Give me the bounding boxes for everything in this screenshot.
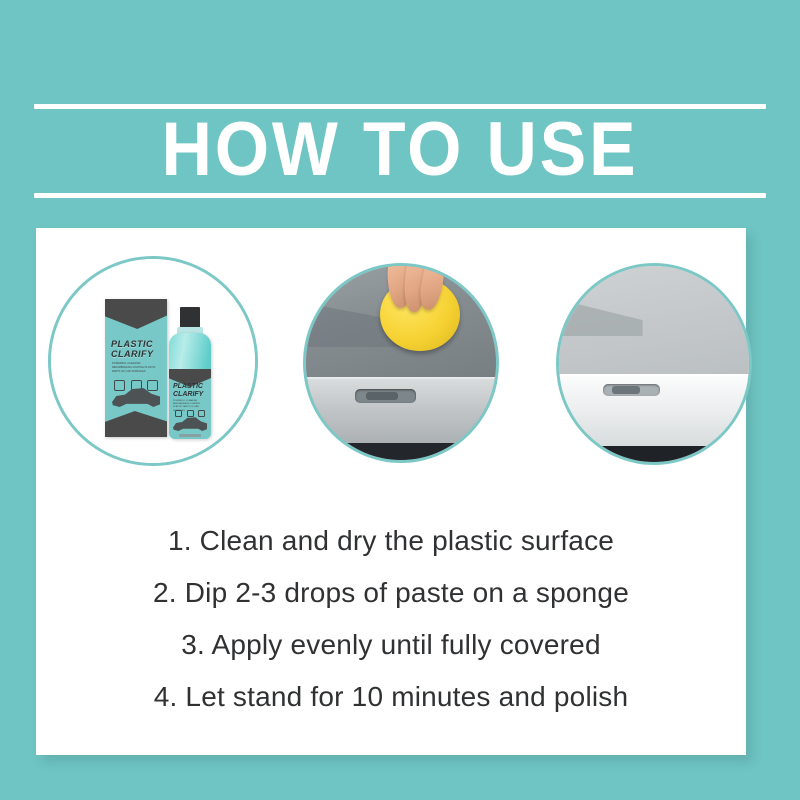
instruction-step: 3. Apply evenly until fully covered	[36, 619, 746, 671]
instruction-step: 1. Clean and dry the plastic surface	[36, 515, 746, 567]
result-scene	[559, 266, 749, 462]
box-brand-line-2: CLARIFY	[111, 349, 154, 359]
shield-icon	[114, 380, 125, 391]
door-handle	[355, 389, 416, 403]
bottle-brand-line-2: CLARIFY	[173, 391, 203, 398]
panel-shadow	[556, 296, 643, 337]
bottle-brand-line-1: PLASTIC	[173, 383, 203, 390]
bottle-cap	[180, 307, 200, 329]
product-scene: PLASTIC CLARIFY POWERFUL CLEANING REFURB…	[51, 259, 255, 463]
instruction-steps: 1. Clean and dry the plastic surface 2. …	[36, 515, 746, 723]
page-title: HOW TO USE	[32, 108, 768, 192]
box-bottom-band	[105, 411, 167, 437]
applying-scene	[306, 266, 496, 460]
photo-applying-sponge	[303, 263, 499, 463]
shine-icon	[198, 410, 205, 417]
box-brand-line-1: PLASTIC	[111, 339, 153, 349]
door-handle	[603, 384, 660, 397]
photo-restored-panel	[556, 263, 752, 465]
box-brand-label: PLASTIC CLARIFY	[111, 339, 161, 359]
door-panel-lower	[306, 377, 496, 449]
title-rule-bottom	[34, 193, 766, 198]
bottle-brand-label: PLASTIC CLARIFY	[173, 383, 207, 399]
bottle-body: PLASTIC CLARIFY POWERFUL CLEANING REFURB…	[169, 333, 211, 439]
bottle-volume-label	[179, 434, 201, 437]
panel-bottom-shadow	[559, 446, 749, 462]
droplet-icon	[187, 410, 194, 417]
product-bottle: PLASTIC CLARIFY POWERFUL CLEANING REFURB…	[169, 307, 211, 439]
panel-bottom-shadow	[306, 443, 496, 460]
instruction-step: 2. Dip 2-3 drops of paste on a sponge	[36, 567, 746, 619]
bottle-feature-icons	[175, 410, 205, 418]
restored-panel-upper	[559, 266, 749, 380]
box-subtitle: POWERFUL CLEANING REFURBISHING COATING P…	[112, 362, 160, 374]
product-box: PLASTIC CLARIFY POWERFUL CLEANING REFURB…	[105, 299, 167, 437]
box-top-band	[105, 299, 167, 329]
instruction-step: 4. Let stand for 10 minutes and polish	[36, 671, 746, 723]
photo-product-packaging: PLASTIC CLARIFY POWERFUL CLEANING REFURB…	[48, 256, 258, 466]
poster-root: HOW TO USE PLASTIC CLARIFY POWERFUL CLEA…	[0, 0, 800, 800]
shield-icon	[175, 410, 182, 417]
bottle-label: PLASTIC CLARIFY POWERFUL CLEANING REFURB…	[169, 369, 211, 439]
shine-icon	[147, 380, 158, 391]
